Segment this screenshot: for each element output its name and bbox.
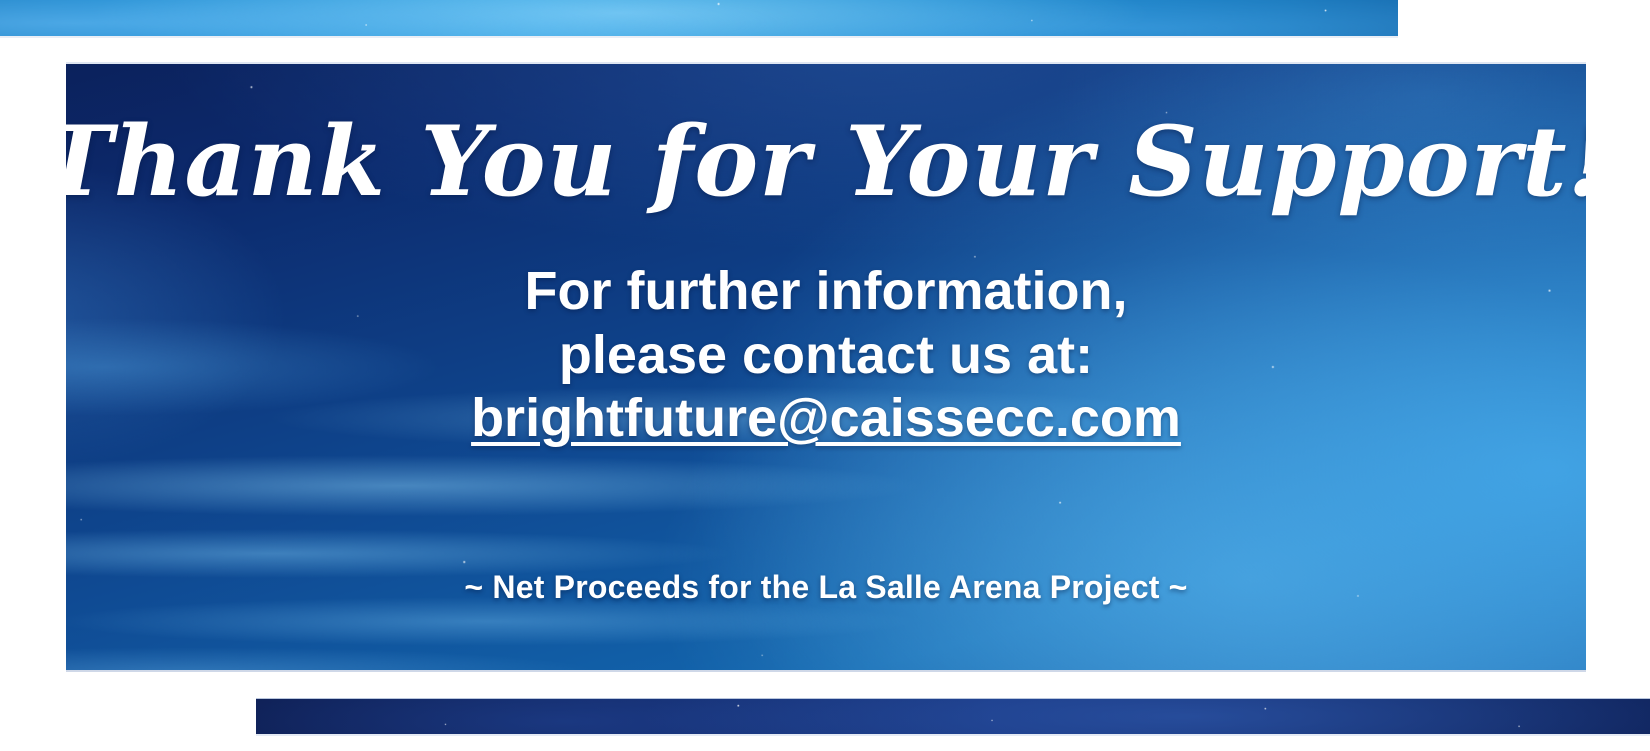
contact-line-1: For further information, bbox=[471, 260, 1181, 324]
slide-content: Thank You for Your Support! For further … bbox=[66, 64, 1586, 670]
main-slide-panel: Thank You for Your Support! For further … bbox=[66, 62, 1586, 672]
bottom-decorative-strip bbox=[256, 698, 1650, 736]
top-decorative-strip bbox=[0, 0, 1398, 38]
nebula-texture bbox=[256, 698, 1650, 736]
page-title: Thank You for Your Support! bbox=[66, 114, 1586, 210]
starfield-texture bbox=[256, 698, 1650, 736]
contact-line-2: please contact us at: bbox=[471, 324, 1181, 388]
contact-information-block: For further information, please contact … bbox=[471, 260, 1181, 451]
starfield-texture bbox=[0, 0, 1398, 38]
tagline-text: ~ Net Proceeds for the La Salle Arena Pr… bbox=[66, 569, 1586, 606]
email-link[interactable]: brightfuture@caissecc.com bbox=[471, 387, 1181, 451]
contact-email-line: brightfuture@caissecc.com bbox=[471, 387, 1181, 451]
nebula-texture bbox=[0, 0, 1398, 38]
